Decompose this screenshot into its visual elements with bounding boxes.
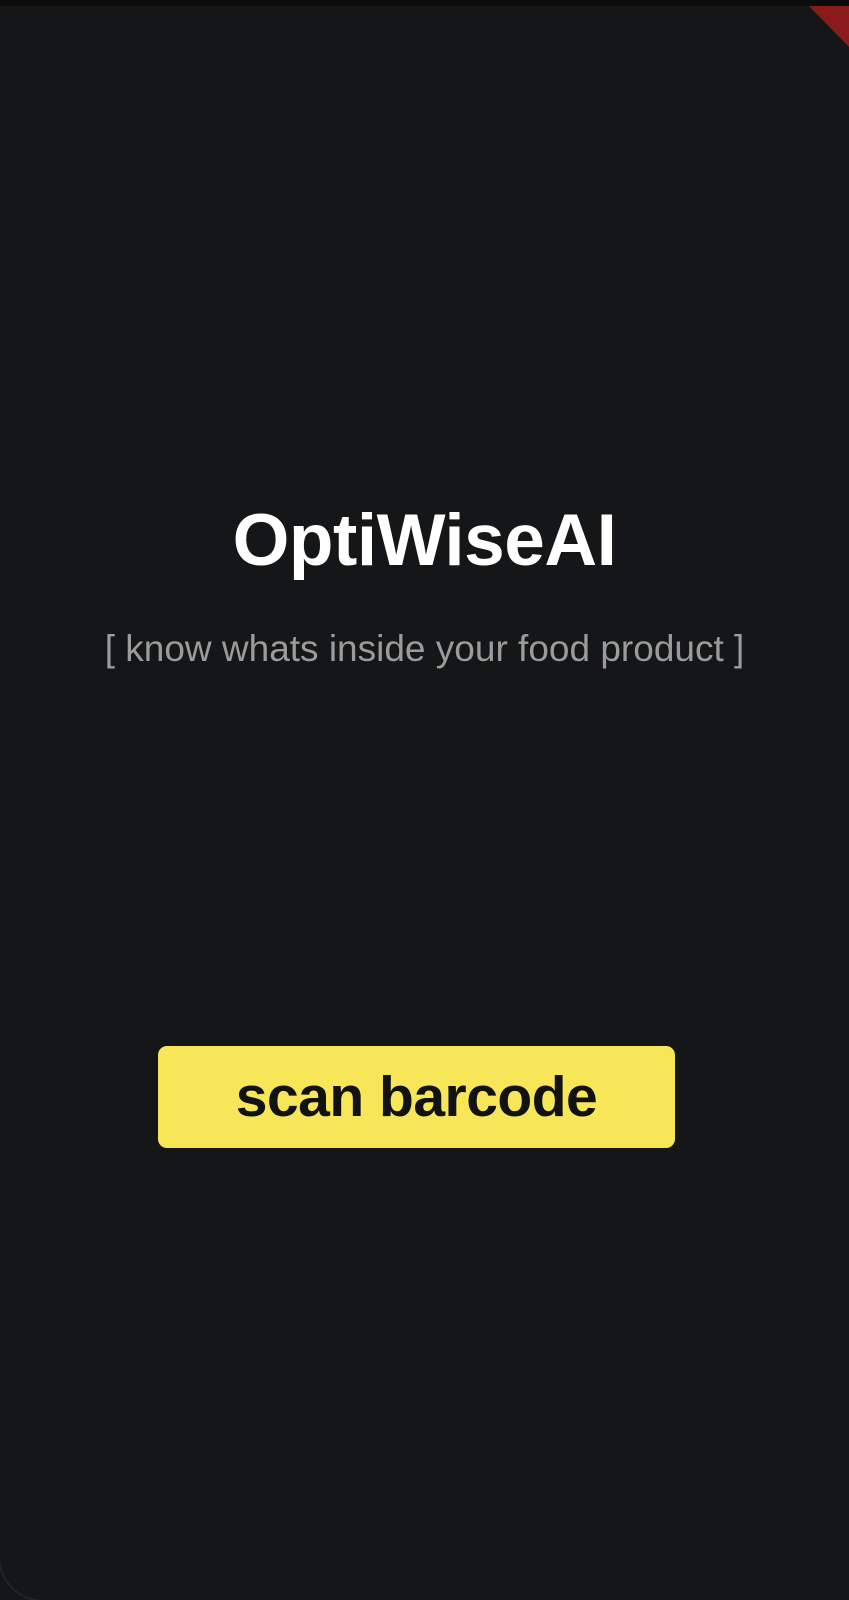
page-tagline: [ know whats inside your food product ] [0, 629, 849, 670]
red-corner-triangle-icon [803, 0, 849, 47]
status-bar-strip [0, 0, 849, 6]
page-title: OptiWiseAI [0, 504, 849, 577]
main-content: OptiWiseAI [ know whats inside your food… [0, 0, 849, 1600]
scan-barcode-button[interactable]: scan barcode [158, 1046, 675, 1148]
app-screen: OptiWiseAI [ know whats inside your food… [0, 0, 849, 1600]
